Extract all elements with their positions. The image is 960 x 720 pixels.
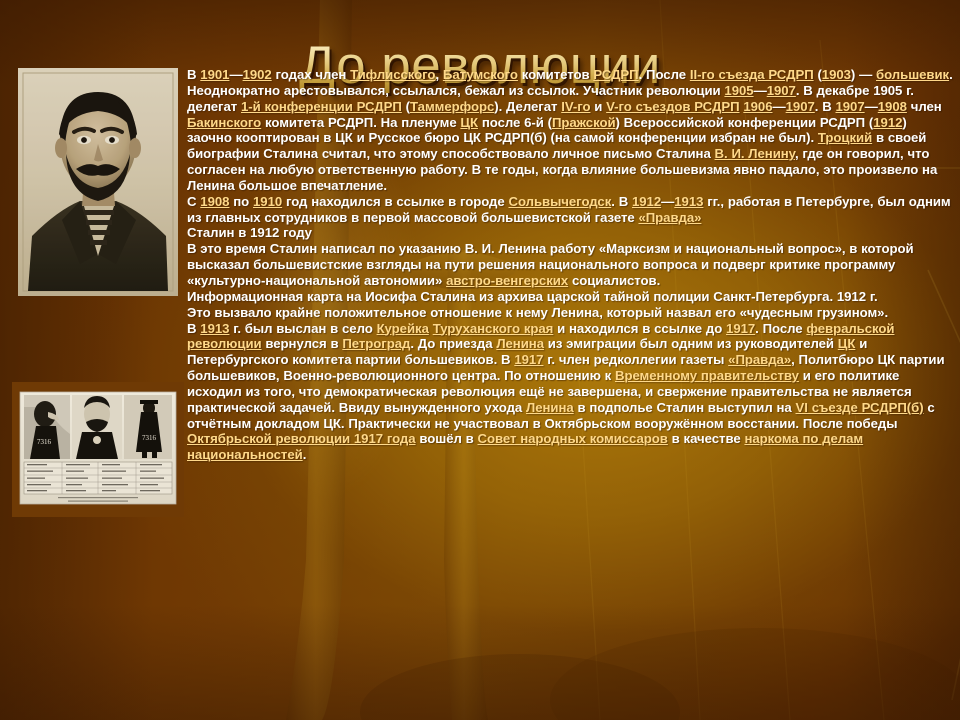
body-link[interactable]: 1913 (674, 194, 703, 209)
body-link[interactable]: 1910 (253, 194, 282, 209)
body-text-run: В (187, 321, 200, 336)
body-link[interactable]: Курейка (377, 321, 429, 336)
body-link[interactable]: Совет народных комиссаров (478, 431, 668, 446)
body-text-run: . В (815, 99, 836, 114)
body-paragraph: В 1913 г. был выслан в село Курейка Туру… (187, 321, 955, 464)
body-text-run: , (435, 67, 442, 82)
body-text-run: по (229, 194, 253, 209)
body-link[interactable]: 1908 (200, 194, 229, 209)
body-link[interactable]: ЦК (838, 336, 856, 351)
body-paragraph: В это время Сталин написал по указанию В… (187, 241, 955, 289)
svg-text:7316: 7316 (142, 434, 157, 442)
body-link[interactable]: VI съезде РСДРП(б) (796, 400, 924, 415)
body-text-run: член (907, 99, 942, 114)
body-link[interactable]: Таммерфорс (410, 99, 494, 114)
body-link[interactable]: Временному правительству (615, 368, 799, 383)
body-link[interactable]: 1907 (786, 99, 815, 114)
body-text-run: . (303, 447, 307, 462)
body-link[interactable]: Пражской (552, 115, 616, 130)
body-text-run: годах член (272, 67, 350, 82)
body-link[interactable]: 1912 (873, 115, 902, 130)
body-link[interactable]: «Правда» (638, 210, 701, 225)
slide-body-text: В 1901—1902 годах член Тифлисского, Бату… (187, 67, 955, 463)
body-link[interactable]: 1-й конференции РСДРП (241, 99, 402, 114)
body-text-run: С (187, 194, 200, 209)
body-link[interactable]: большевик (876, 67, 949, 82)
body-link[interactable]: 1917 (514, 352, 543, 367)
body-link[interactable]: V-го съездов РСДРП (606, 99, 739, 114)
body-link[interactable]: 1907 (835, 99, 864, 114)
body-paragraph: В 1901—1902 годах член Тифлисского, Бату… (187, 67, 955, 194)
body-text-run: — (229, 67, 242, 82)
presentation-slide: До революции (0, 0, 960, 720)
body-link[interactable]: Бакинского (187, 115, 261, 130)
body-link[interactable]: Туруханского края (433, 321, 554, 336)
body-text-run: г. член редколлегии газеты (543, 352, 728, 367)
body-link[interactable]: В. И. Ленину (715, 146, 795, 161)
body-link[interactable]: ЦК (460, 115, 478, 130)
body-paragraph: Это вызвало крайне положительное отношен… (187, 305, 955, 321)
body-text-run: Информационная карта на Иосифа Сталина и… (187, 289, 878, 304)
body-link[interactable]: Октябрьской революции 1917 года (187, 431, 416, 446)
body-text-run: . В (611, 194, 632, 209)
body-text-run: — (661, 194, 674, 209)
police-information-card-photo: 7316 7316 (12, 382, 184, 517)
body-link[interactable]: Тифлисского (350, 67, 435, 82)
body-link[interactable]: 1907 (767, 83, 796, 98)
body-text-run: — (772, 99, 785, 114)
body-link[interactable]: 1902 (243, 67, 272, 82)
body-text-run: год находился в ссылке в городе (282, 194, 508, 209)
body-link[interactable]: 1917 (726, 321, 755, 336)
svg-text:7316: 7316 (37, 438, 52, 446)
body-link[interactable]: 1906 (743, 99, 772, 114)
body-link[interactable]: 1912 (632, 194, 661, 209)
body-text-run: ) — (851, 67, 876, 82)
body-text-run: ( (814, 67, 822, 82)
body-paragraph: Информационная карта на Иосифа Сталина и… (187, 289, 955, 305)
body-text-run: — (754, 83, 767, 98)
body-paragraph: С 1908 по 1910 год находился в ссылке в … (187, 194, 955, 226)
body-text-run: в подполье Сталин выступил на (574, 400, 796, 415)
body-text-run: . После (755, 321, 806, 336)
body-link[interactable]: 1903 (822, 67, 851, 82)
body-text-run: и (590, 99, 606, 114)
body-link[interactable]: Троцкий (818, 130, 872, 145)
body-link[interactable]: II-го съезда РСДРП (690, 67, 814, 82)
body-text-run: Это вызвало крайне положительное отношен… (187, 305, 888, 320)
body-text-run: Сталин в 1912 году (187, 225, 312, 240)
body-text-run: . После (639, 67, 690, 82)
body-link[interactable]: Ленина (496, 336, 544, 351)
body-link[interactable]: 1905 (724, 83, 753, 98)
body-link[interactable]: «Правда» (728, 352, 791, 367)
body-link[interactable]: Сольвычегодск (508, 194, 611, 209)
body-link[interactable]: 1901 (200, 67, 229, 82)
body-text-run: В (187, 67, 200, 82)
body-text-run: в качестве (668, 431, 745, 446)
body-text-run: комитета РСДРП. На пленуме (261, 115, 460, 130)
body-text-run: ( (402, 99, 410, 114)
body-link[interactable]: Ленина (526, 400, 574, 415)
body-text-run: и находился в ссылке до (553, 321, 726, 336)
body-text-run: г. был выслан в село (229, 321, 376, 336)
body-text-run: вернулся в (262, 336, 343, 351)
body-text-run: ). Делегат (494, 99, 561, 114)
body-text-run: социалистов. (568, 273, 660, 288)
body-link[interactable]: австро-венгерских (446, 273, 568, 288)
body-text-run: ) Всероссийской конференции РСДРП ( (616, 115, 874, 130)
body-text-run: вошёл в (416, 431, 478, 446)
body-text-run: . До приезда (410, 336, 496, 351)
body-text-run: из эмиграции был одним из руководителей (544, 336, 838, 351)
body-paragraph: Сталин в 1912 году (187, 225, 955, 241)
body-text-run: комитетов (518, 67, 593, 82)
body-text-run: — (865, 99, 878, 114)
body-link[interactable]: IV-го (561, 99, 590, 114)
body-link[interactable]: 1908 (878, 99, 907, 114)
body-link[interactable]: РСДРП (593, 67, 638, 82)
body-text-run: после 6-й ( (478, 115, 552, 130)
body-link[interactable]: Батумского (443, 67, 518, 82)
body-link[interactable]: Петроград (342, 336, 410, 351)
body-link[interactable]: 1913 (200, 321, 229, 336)
